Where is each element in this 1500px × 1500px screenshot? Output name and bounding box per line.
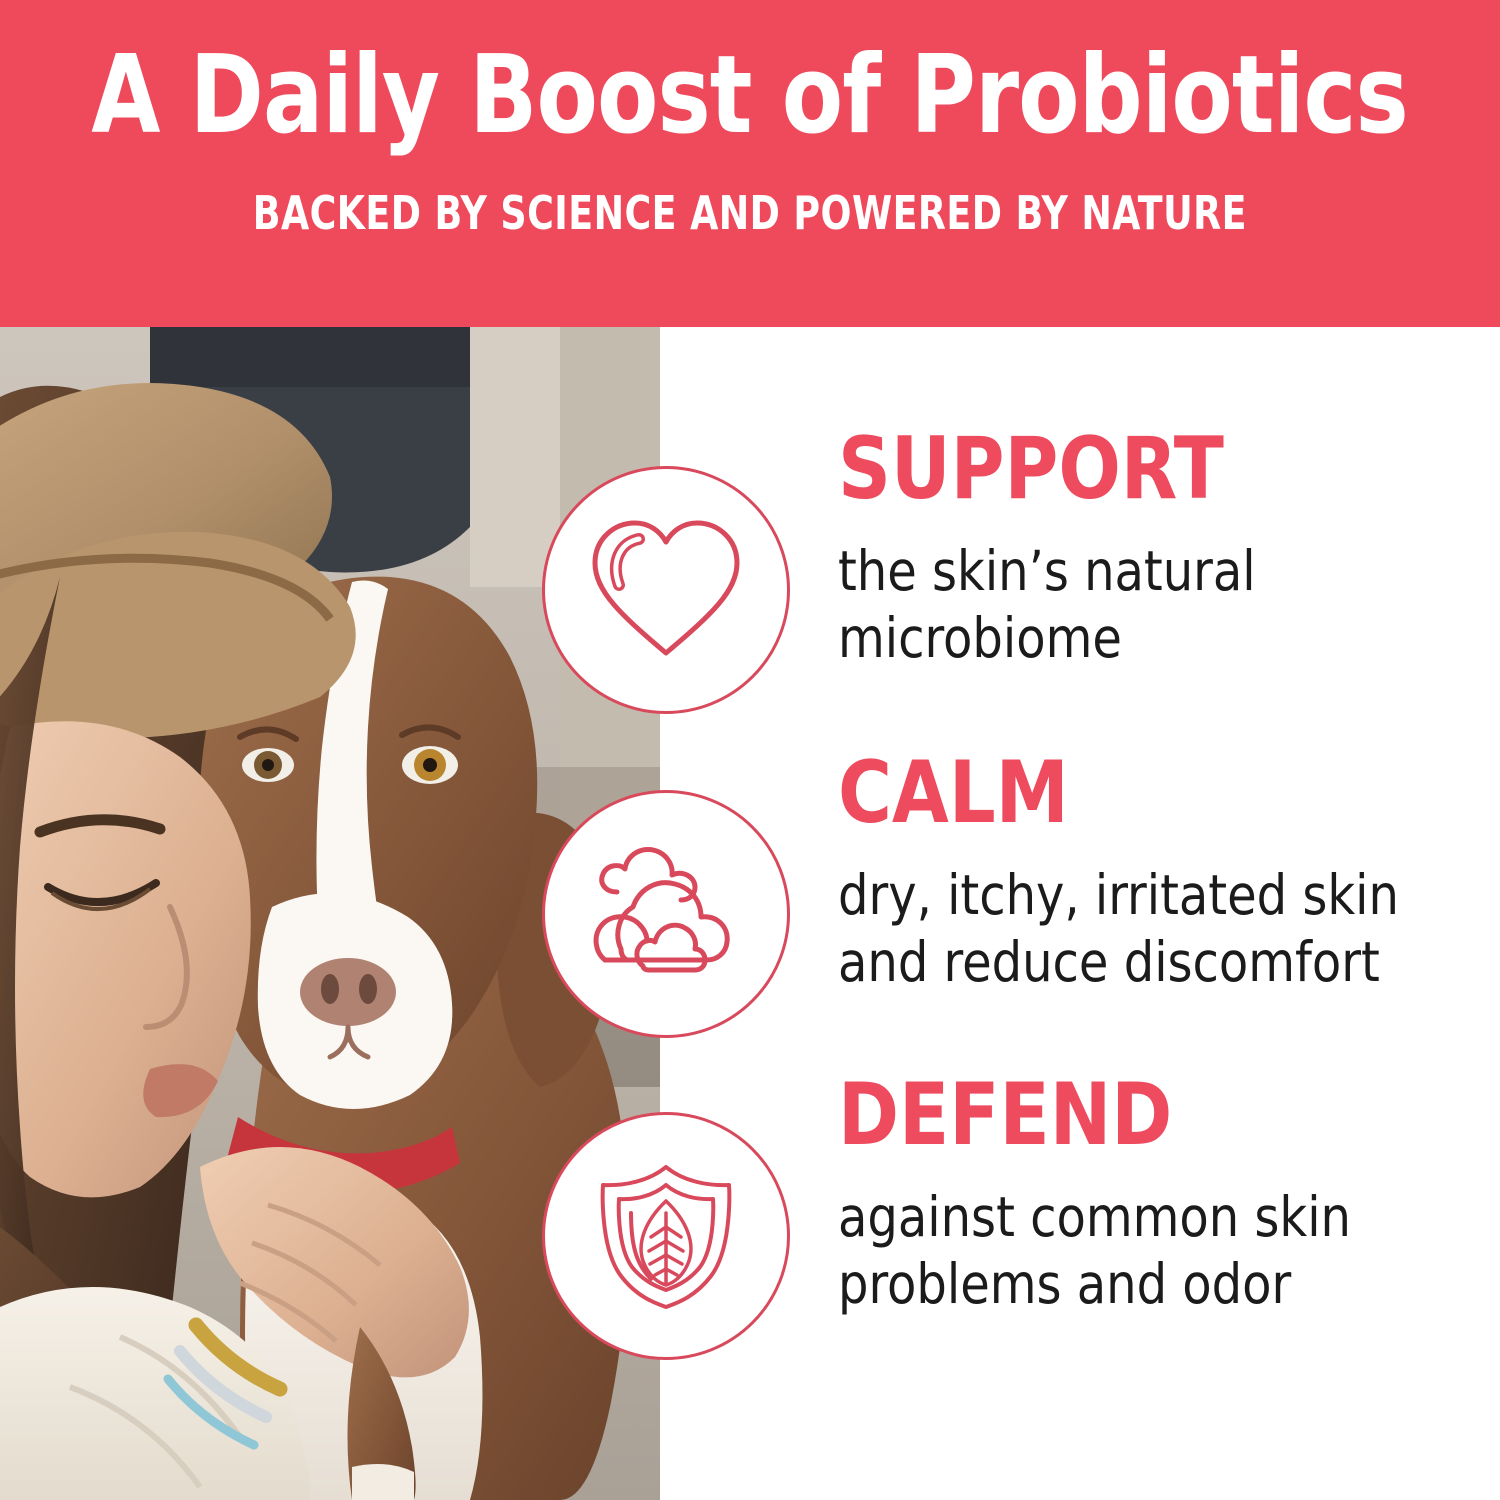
feature-support: SUPPORT the skin’s natural microbiome — [0, 466, 1500, 716]
page-title: A Daily Boost of Probiotics — [92, 0, 1409, 150]
page-subtitle: BACKED BY SCIENCE AND POWERED BY NATURE — [253, 150, 1247, 236]
feature-title: CALM — [838, 750, 1446, 836]
probiotics-promo-poster: A Daily Boost of Probiotics BACKED BY SC… — [0, 0, 1500, 1500]
clouds-icon — [542, 790, 790, 1038]
shield-leaf-icon — [542, 1112, 790, 1360]
feature-description-line1: against common skin — [838, 1185, 1351, 1249]
feature-calm-text: CALM dry, itchy, irritated skin and redu… — [838, 750, 1478, 996]
feature-description: dry, itchy, irritated skin and reduce di… — [838, 836, 1459, 996]
feature-defend: DEFEND against common skin problems and … — [0, 1112, 1500, 1362]
feature-calm: CALM dry, itchy, irritated skin and redu… — [0, 790, 1500, 1040]
feature-description: the skin’s natural microbiome — [838, 512, 1459, 672]
feature-description-line2: microbiome — [838, 606, 1122, 670]
feature-description: against common skin problems and odor — [838, 1158, 1459, 1318]
feature-description-line2: and reduce discomfort — [838, 930, 1380, 994]
feature-description-line1: the skin’s natural — [838, 539, 1256, 603]
feature-title: DEFEND — [838, 1072, 1446, 1158]
heart-icon — [542, 466, 790, 714]
feature-support-text: SUPPORT the skin’s natural microbiome — [838, 426, 1478, 672]
feature-description-line1: dry, itchy, irritated skin — [838, 863, 1399, 927]
header-banner: A Daily Boost of Probiotics BACKED BY SC… — [0, 0, 1500, 327]
feature-title: SUPPORT — [838, 426, 1446, 512]
feature-description-line2: problems and odor — [838, 1252, 1291, 1316]
feature-defend-text: DEFEND against common skin problems and … — [838, 1072, 1478, 1318]
